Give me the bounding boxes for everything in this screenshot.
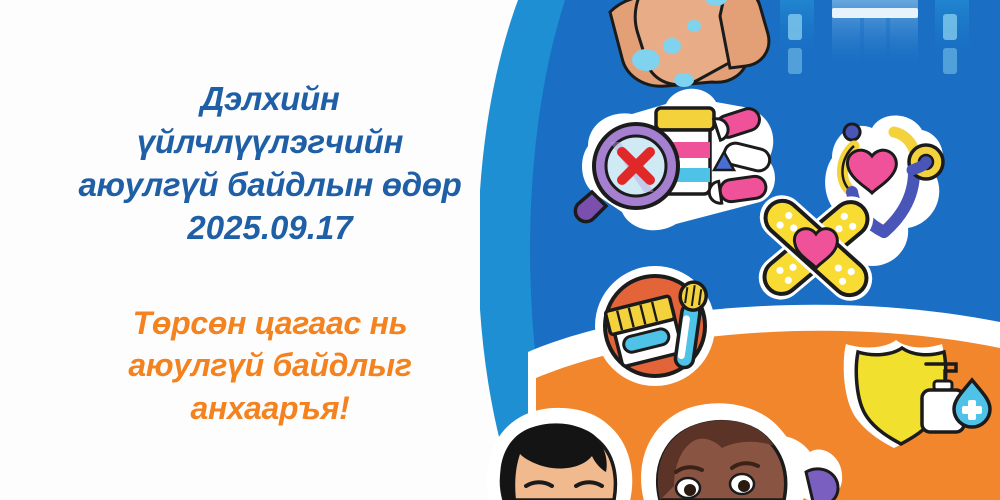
subhead-line-2: аюулгүй байдлыг [30, 344, 510, 387]
headline-line-2: үйлчлүүлэгчийн [20, 121, 520, 164]
subhead-line-1: Төрсөн цагаас нь [30, 302, 510, 345]
event-date: 2025.09.17 [20, 207, 520, 250]
child-boy-face [495, 416, 624, 500]
first-aid-circle-sticker [595, 266, 715, 386]
headline-line-3: аюулгүй байдлын өдөр [20, 164, 520, 207]
subhead-line-3: анхааръя! [30, 387, 510, 430]
page-subtitle: Төрсөн цагаас нь аюулгүй байдлыг анхааръ… [30, 302, 510, 431]
artwork-panel [480, 0, 1000, 500]
headline-line-1: Дэлхийн [20, 78, 520, 121]
poster-canvas: Дэлхийн үйлчлүүлэгчийн аюулгүй байдлын ө… [0, 0, 1000, 500]
text-column: Дэлхийн үйлчлүүлэгчийн аюулгүй байдлын ө… [0, 0, 540, 500]
page-title: Дэлхийн үйлчлүүлэгчийн аюулгүй байдлын ө… [20, 78, 520, 250]
child-girl-face [649, 411, 793, 500]
